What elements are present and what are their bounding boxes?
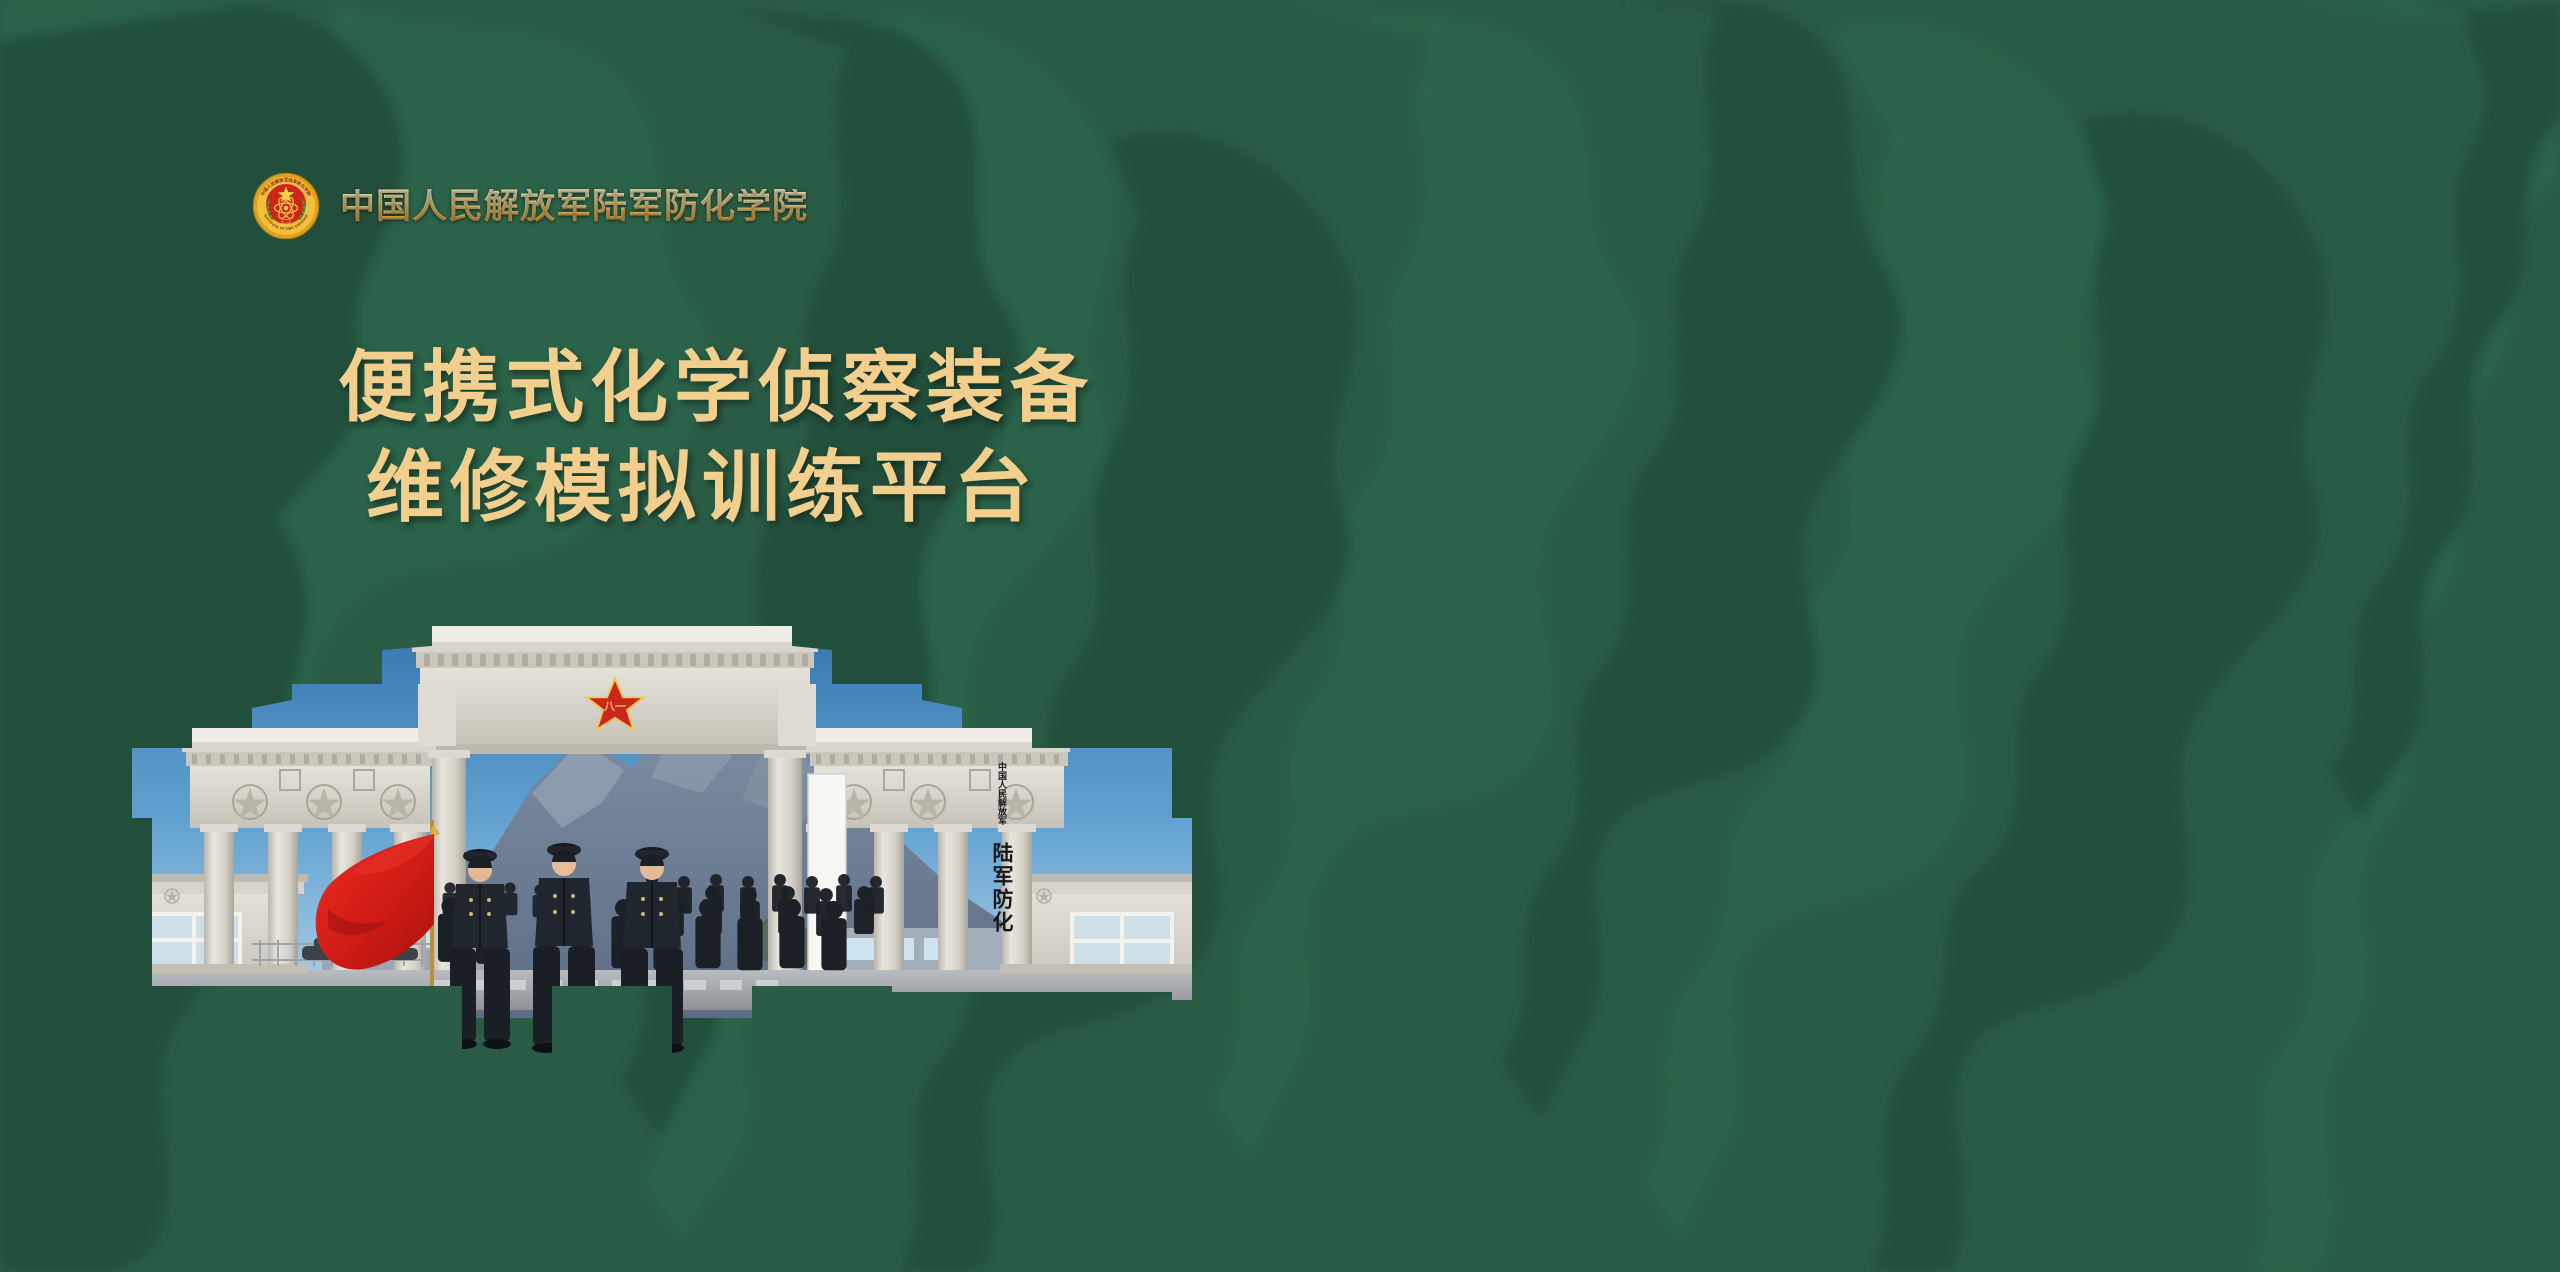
campus-gate-photo: 八一	[152, 608, 1184, 990]
page-title: 便携式化学侦察装备 维修模拟训练平台	[338, 338, 1438, 538]
banner-small-text: 中国人民解放军	[997, 762, 1007, 825]
banner-big-text: 陆军防化	[990, 842, 1014, 934]
institute-of-nbc-defense-emblem: 中国人民解放军陆军防化学院 INSTITUTE OF NBC DEFENSE	[252, 172, 320, 240]
brand-header: 中国人民解放军陆军防化学院 INSTITUTE OF NBC DEFENSE	[252, 170, 808, 242]
splash-screen: 中国人民解放军陆军防化学院 INSTITUTE OF NBC DEFENSE	[0, 0, 2560, 1272]
title-line-1: 便携式化学侦察装备	[338, 338, 1438, 438]
title-line-2: 维修模拟训练平台	[338, 438, 1438, 538]
gate-vertical-banner: 中国人民解放军 陆军防化	[978, 762, 1012, 934]
svg-text:八一: 八一	[603, 700, 626, 713]
organization-name: 中国人民解放军陆军防化学院	[340, 189, 808, 224]
